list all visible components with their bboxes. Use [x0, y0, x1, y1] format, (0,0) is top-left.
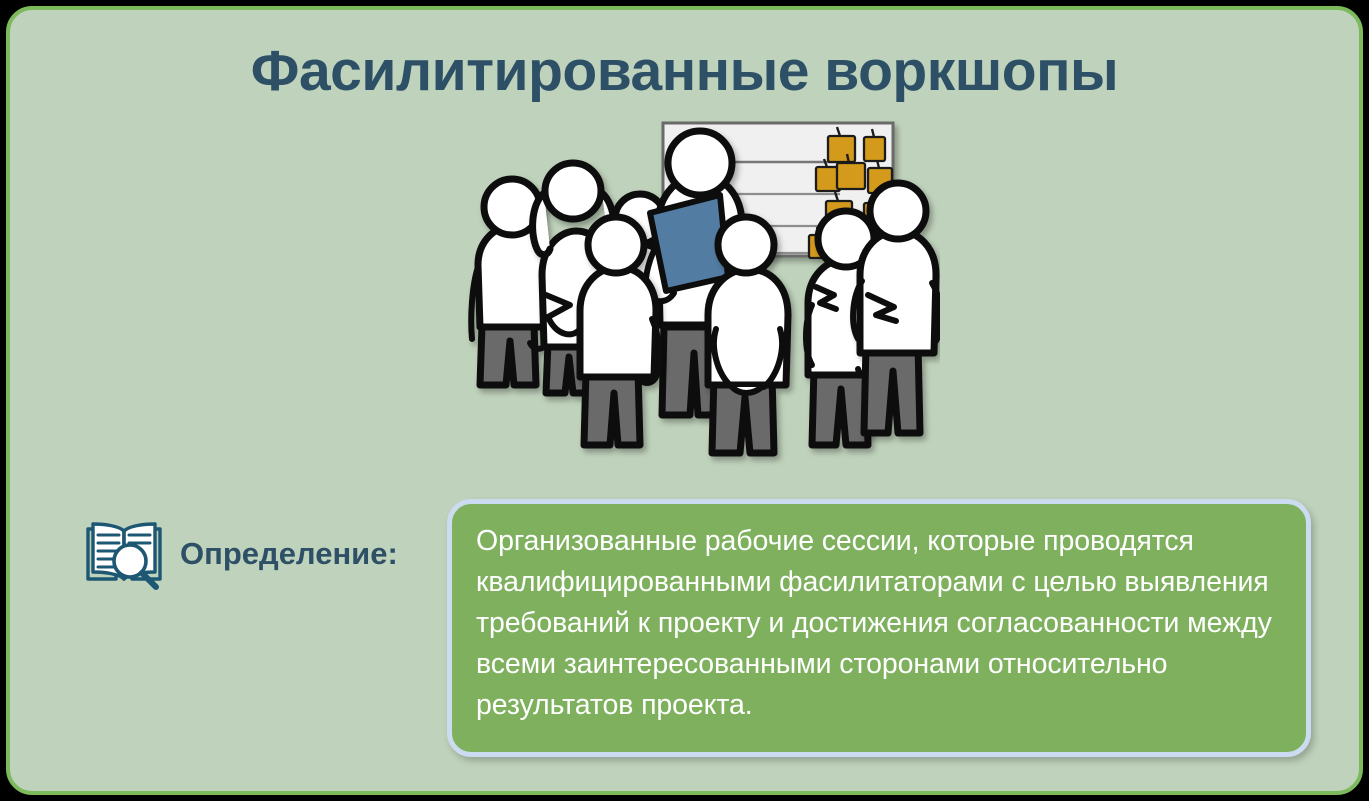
book-magnifier-icon	[82, 515, 166, 593]
slide-canvas: Фасилитированные воркшопы	[6, 6, 1363, 795]
definition-label-group: Определение:	[82, 515, 398, 593]
definition-text: Организованные рабочие сессии, которые п…	[476, 521, 1292, 726]
definition-label: Определение:	[180, 536, 398, 572]
person-front-center	[708, 217, 788, 453]
definition-box: Организованные рабочие сессии, которые п…	[447, 499, 1311, 757]
page-title: Фасилитированные воркшопы	[10, 38, 1359, 104]
workshop-scene-svg	[450, 115, 940, 495]
facilitated-workshop-illustration	[450, 115, 940, 495]
